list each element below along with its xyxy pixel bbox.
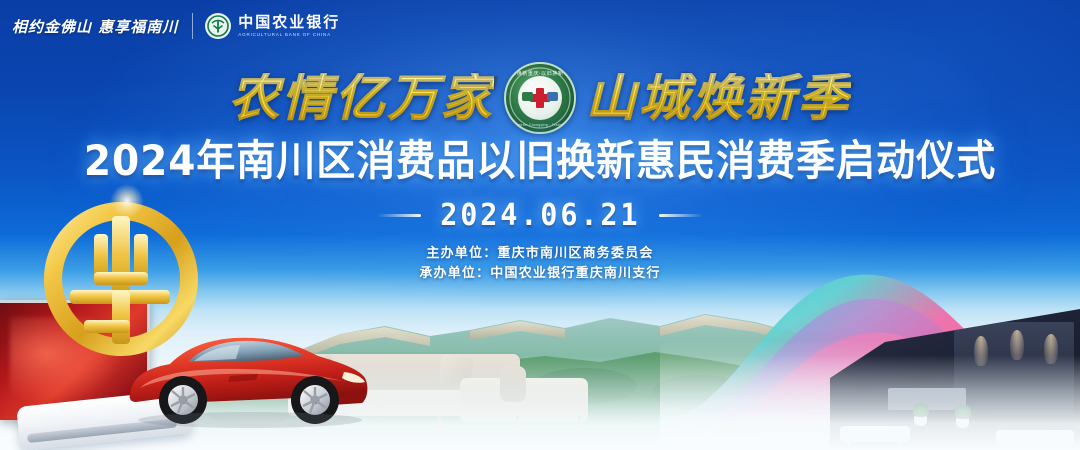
emblem-car-icon xyxy=(547,92,558,101)
calligraphy-left: 农情亿万家 xyxy=(229,73,494,123)
date-dash-right-icon xyxy=(659,214,703,217)
bank-logo-block: 中国农业银行 AGRICULTURAL BANK OF CHINA xyxy=(205,13,340,39)
red-sports-car-icon xyxy=(122,310,372,428)
trade-in-recycle-emblem-icon: 焕新重庆·以旧换新 Huanxin Chongqing · Trade-in xyxy=(504,62,576,134)
emblem-center-icon xyxy=(518,76,562,120)
bank-name-cn: 中国农业银行 xyxy=(238,15,340,30)
gold-emblem-sparkle-icon xyxy=(110,184,144,218)
emblem-bottom-text: Huanxin Chongqing · Trade-in xyxy=(513,123,567,127)
page-title: 2024年南川区消费品以旧换新惠民消费季启动仪式 xyxy=(38,138,1042,183)
calligraphy-row: 农情亿万家 焕新重庆·以旧换新 Huanxin Chongqing · Trad… xyxy=(0,62,1080,134)
bank-name-en: AGRICULTURAL BANK OF CHINA xyxy=(238,33,340,38)
bank-name-block: 中国农业银行 AGRICULTURAL BANK OF CHINA xyxy=(238,15,340,38)
banner-header: 相约金佛山 惠享福南川 中国农业银行 AGRICULTURAL BANK OF … xyxy=(0,0,1080,52)
header-slogan: 相约金佛山 惠享福南川 xyxy=(12,16,178,37)
promotional-banner: 相约金佛山 惠享福南川 中国农业银行 AGRICULTURAL BANK OF … xyxy=(0,0,1080,450)
date-dash-left-icon xyxy=(377,214,421,217)
emblem-appliance-icon xyxy=(522,92,533,101)
abc-bank-logo-icon xyxy=(205,13,231,39)
event-date: 2024.06.21 xyxy=(440,198,640,233)
calligraphy-right: 山城焕新季 xyxy=(586,73,851,123)
vertical-divider-icon xyxy=(192,13,193,39)
